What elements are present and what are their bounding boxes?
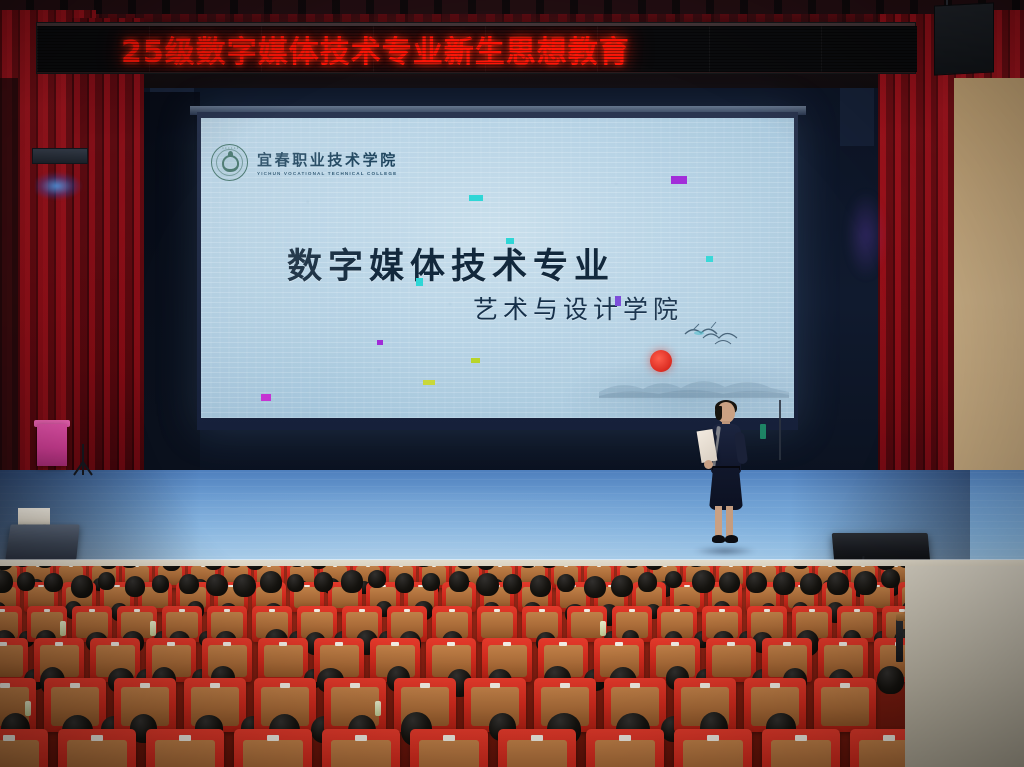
seat-post xyxy=(896,618,903,662)
slide-fleck xyxy=(377,340,383,345)
seat-back-panel xyxy=(595,740,656,767)
seat-number-label xyxy=(559,642,567,646)
seat-number-label xyxy=(630,683,640,688)
seat-number-label xyxy=(404,609,410,612)
seat-number-label xyxy=(167,642,175,646)
seat-number-label xyxy=(700,683,710,688)
seat-number-label xyxy=(839,642,847,646)
seat xyxy=(814,678,876,732)
college-name-cn: 宜春职业技术学院 xyxy=(257,149,398,170)
audience-head xyxy=(877,666,904,693)
audience-head-back-row xyxy=(476,573,499,596)
audience-head-back-row xyxy=(314,572,333,592)
audience-head-back-row xyxy=(125,576,145,597)
audience-head-back-row xyxy=(557,574,575,592)
curtain-left-inner xyxy=(72,18,144,510)
seat-number-label xyxy=(335,642,343,646)
tripod-stand xyxy=(70,442,96,476)
seat-frame xyxy=(58,729,136,767)
slide-fleck xyxy=(506,238,514,244)
ink-red-sun xyxy=(650,350,672,372)
seat-number-label xyxy=(134,609,140,612)
seat xyxy=(322,729,400,767)
audience-head-back-row xyxy=(692,570,715,593)
seat-number-label xyxy=(359,609,365,612)
seat-number-label xyxy=(0,642,7,646)
audience-head-back-row xyxy=(800,573,822,595)
seat-back-panel xyxy=(0,740,39,767)
audience-head-back-row xyxy=(341,570,363,592)
water-bottle xyxy=(150,621,156,636)
audience-head-back-row xyxy=(449,571,469,591)
audience-head-back-row xyxy=(260,571,282,593)
led-banner-housing: 25级数字媒体技术专业新生思想教育 xyxy=(36,22,916,74)
seat-back-panel xyxy=(419,740,480,767)
seat-frame xyxy=(322,729,400,767)
audience-seating xyxy=(0,566,1024,767)
seat-number-label xyxy=(280,683,290,688)
audience-head-back-row xyxy=(44,573,63,592)
seat-back-panel xyxy=(571,612,602,638)
seat-number-label xyxy=(399,566,404,567)
stage-wing-left xyxy=(140,92,200,492)
seat-number-label xyxy=(490,683,500,688)
ceiling-speaker xyxy=(934,2,994,75)
seat-number-label xyxy=(828,566,833,567)
seat-number-label xyxy=(224,609,230,612)
seat-number-label xyxy=(89,609,95,612)
seat-number-label xyxy=(729,566,734,567)
seat-number-label xyxy=(447,642,455,646)
purple-light-haze xyxy=(846,190,886,280)
seat-number-label xyxy=(355,735,367,741)
seat-back-panel xyxy=(155,740,216,767)
audience-head-back-row xyxy=(530,575,551,597)
seat-number-label xyxy=(727,642,735,646)
seat-number-label xyxy=(366,566,371,567)
seat-frame xyxy=(146,729,224,767)
slide-fleck xyxy=(615,296,621,306)
audience-head-back-row xyxy=(827,572,849,595)
seat-number-label xyxy=(854,609,860,612)
college-seal-icon: • • • • • • xyxy=(211,144,248,181)
seat-back-panel xyxy=(712,645,751,677)
seat xyxy=(258,638,308,682)
seat-frame xyxy=(706,638,756,682)
seat-number-label xyxy=(584,609,590,612)
audience-head-back-row xyxy=(233,574,256,597)
seal-ring-text: • • • • • • xyxy=(212,146,249,150)
audience-head-back-row xyxy=(584,576,606,598)
seat-number-label xyxy=(179,735,191,741)
seat xyxy=(234,729,312,767)
seat-number-label xyxy=(449,609,455,612)
seat xyxy=(58,729,136,767)
led-banner-text: 25级数字媒体技术专业新生思想教育 xyxy=(121,26,841,72)
seat-number-label xyxy=(684,585,689,588)
water-bottle xyxy=(60,621,66,636)
presenter-hand xyxy=(704,460,713,469)
seat-number-label xyxy=(70,683,80,688)
stage-light-bar xyxy=(32,148,88,164)
seat-frame xyxy=(498,729,576,767)
seat-back-panel xyxy=(67,740,128,767)
seat xyxy=(0,729,48,767)
water-bottle xyxy=(600,621,606,636)
audience-aisle-floor xyxy=(905,566,1024,767)
audience-head-back-row xyxy=(206,574,228,597)
slide-fleck xyxy=(261,394,271,401)
seat-number-label xyxy=(531,735,543,741)
seat xyxy=(586,729,664,767)
seat-number-label xyxy=(114,585,119,588)
seat xyxy=(706,638,756,682)
seat xyxy=(498,729,576,767)
seat-number-label xyxy=(809,609,815,612)
seat xyxy=(477,606,517,642)
slide-fleck xyxy=(416,278,423,286)
presenter xyxy=(700,402,748,550)
slide-subtitle: 艺术与设计学院 xyxy=(473,290,683,326)
audience-head-back-row xyxy=(422,573,440,591)
water-bottle xyxy=(25,701,31,716)
audience-head-back-row xyxy=(287,574,304,592)
seat-back-panel xyxy=(771,740,832,767)
seat-frame xyxy=(586,729,664,767)
seat-number-label xyxy=(795,735,807,741)
seat-number-label xyxy=(770,683,780,688)
back-wall-pillar-right xyxy=(840,88,874,146)
audience-head-back-row xyxy=(638,572,657,591)
seat-number-label xyxy=(783,642,791,646)
audience-head-back-row xyxy=(719,572,740,593)
audience-head-back-row xyxy=(611,575,633,598)
seat xyxy=(146,729,224,767)
seat-number-label xyxy=(91,735,103,741)
seat-number-label xyxy=(861,566,866,567)
audience-head-back-row xyxy=(71,575,93,598)
seat-number-label xyxy=(333,566,338,567)
floor-monitor-left xyxy=(5,524,79,560)
seat-number-label xyxy=(69,566,74,567)
college-name-en: YICHUN VOCATIONAL TECHNICAL COLLEGE xyxy=(257,171,398,176)
audience-head-back-row xyxy=(854,571,877,594)
seat-number-label xyxy=(663,566,668,567)
slide-fleck xyxy=(471,358,480,363)
auditorium-scene: • • • • • • 宜春职业技术学院 YICHUN VOCATIONAL T… xyxy=(0,0,1024,767)
slide-title: 数字媒体技术专业 xyxy=(287,238,615,289)
audience-head-back-row xyxy=(395,573,414,592)
seat-number-label xyxy=(560,683,570,688)
seat-frame xyxy=(477,606,517,642)
seat-frame xyxy=(410,729,488,767)
seat-back-panel xyxy=(683,740,744,767)
seat-number-label xyxy=(350,683,360,688)
seat-number-label xyxy=(619,735,631,741)
seal-inner-mark xyxy=(221,154,239,172)
audience-head-back-row xyxy=(881,569,900,588)
small-green-object xyxy=(760,424,766,439)
audience-head-back-row xyxy=(17,572,35,591)
audience-head-back-row xyxy=(746,572,767,593)
seat-number-label xyxy=(3,735,15,741)
seat-number-label xyxy=(674,609,680,612)
audience-head-back-row xyxy=(665,571,682,589)
audience-head-back-row xyxy=(773,572,795,595)
projection-screen: • • • • • • 宜春职业技术学院 YICHUN VOCATIONAL T… xyxy=(201,118,794,418)
seat-number-label xyxy=(615,642,623,646)
slide-fleck xyxy=(423,380,435,385)
seat-frame xyxy=(762,729,840,767)
pink-draped-table xyxy=(37,424,67,466)
seat-back-panel xyxy=(481,612,512,638)
seat-number-label xyxy=(279,642,287,646)
seat-number-label xyxy=(564,566,569,567)
college-logo-block: • • • • • • 宜春职业技术学院 YICHUN VOCATIONAL T… xyxy=(211,144,398,181)
seat-number-label xyxy=(707,735,719,741)
audience-head-back-row xyxy=(179,574,199,594)
presenter-leg-right xyxy=(726,506,733,538)
seat-number-label xyxy=(762,566,767,567)
led-banner-screen: 25级数字媒体技术专业新生思想教育 xyxy=(37,26,917,72)
audience-head-back-row xyxy=(98,572,115,590)
seat-number-label xyxy=(420,683,430,688)
seat-number-label xyxy=(597,566,602,567)
presenter-skirt xyxy=(709,468,743,510)
seat-number-label xyxy=(0,683,10,688)
seat-frame xyxy=(814,678,876,732)
slide-fleck xyxy=(706,256,713,262)
seat-back-panel xyxy=(243,740,304,767)
seat-number-label xyxy=(304,585,309,588)
audience-head-back-row xyxy=(152,575,169,592)
seat-number-label xyxy=(503,642,511,646)
seat-number-label xyxy=(38,585,43,588)
seat-number-label xyxy=(314,609,320,612)
seat-number-label xyxy=(55,642,63,646)
slide-fleck xyxy=(671,176,687,184)
seat-number-label xyxy=(432,566,437,567)
seat-number-label xyxy=(494,609,500,612)
ink-mountains xyxy=(599,358,789,398)
seat-number-label xyxy=(840,683,850,688)
seat-frame xyxy=(258,638,308,682)
seat-number-label xyxy=(539,609,545,612)
audience-head-back-row xyxy=(368,570,386,588)
audience-head-back-row xyxy=(503,574,522,594)
slide-fleck xyxy=(469,195,483,201)
seat-number-label xyxy=(111,642,119,646)
ink-birds xyxy=(681,318,751,352)
seat-number-label xyxy=(267,566,272,567)
seat-number-label xyxy=(269,609,275,612)
seal-inner-dot xyxy=(228,151,233,157)
seat-number-label xyxy=(629,609,635,612)
seat-number-label xyxy=(267,735,279,741)
seat-number-label xyxy=(44,609,50,612)
seat-number-label xyxy=(671,642,679,646)
seat-frame xyxy=(674,729,752,767)
presenter-hair-side xyxy=(715,406,722,420)
college-name-block: 宜春职业技术学院 YICHUN VOCATIONAL TECHNICAL COL… xyxy=(257,149,398,176)
presenter-leg-left xyxy=(715,506,722,538)
seat-number-label xyxy=(179,609,185,612)
seat-back-panel xyxy=(507,740,568,767)
seat-number-label xyxy=(210,683,220,688)
seat-frame xyxy=(234,729,312,767)
seat-number-label xyxy=(719,609,725,612)
seat xyxy=(674,729,752,767)
presenter-shoe-right xyxy=(725,535,738,543)
seat xyxy=(410,729,488,767)
water-bottle xyxy=(375,701,381,716)
seat-back-panel xyxy=(264,645,303,677)
seat-number-label xyxy=(391,642,399,646)
seat-number-label xyxy=(498,566,503,567)
seat-frame xyxy=(0,729,48,767)
seat xyxy=(762,729,840,767)
seat-number-label xyxy=(764,609,770,612)
seat-back-panel xyxy=(331,740,392,767)
seat-number-label xyxy=(140,683,150,688)
seat-number-label xyxy=(223,642,231,646)
blue-stage-light xyxy=(36,172,82,200)
seat-back-panel xyxy=(0,645,23,677)
seat-number-label xyxy=(883,735,895,741)
seat-number-label xyxy=(443,735,455,741)
mic-stand xyxy=(779,400,781,460)
seat-back-panel xyxy=(821,687,869,726)
presenter-shoe-left xyxy=(712,535,725,543)
